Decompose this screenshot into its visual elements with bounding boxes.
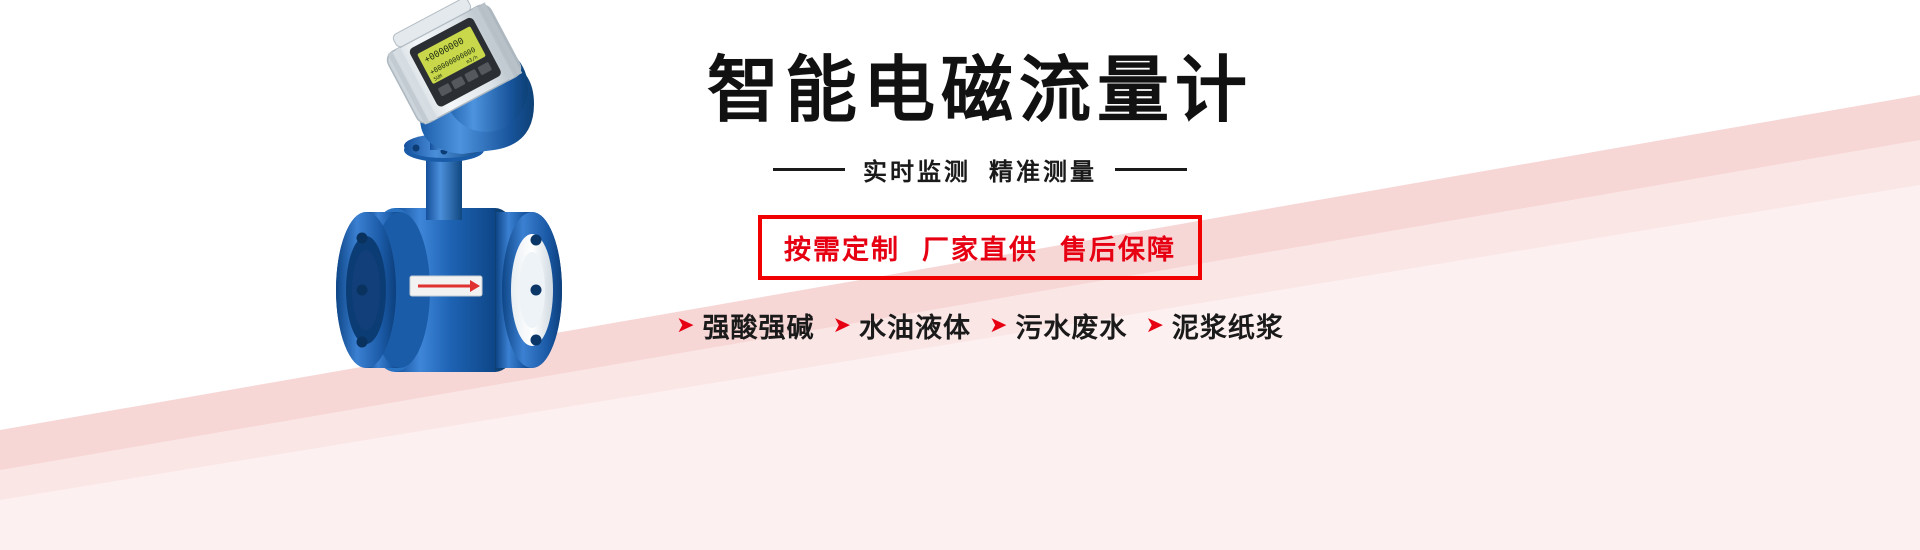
subtitle-text-right: 精准测量 [989,159,1097,186]
subtitle-rule-left [773,168,845,171]
feature-item-label: 水油液体 [859,306,971,345]
feature-item-1: ➤ 水油液体 [833,306,971,345]
subtitle-text-left: 实时监测 [863,159,971,186]
product-banner: +0000000 +00000000000 SUM m3/h LMFM 8321… [0,0,1920,550]
feature-item-label: 泥浆纸浆 [1172,306,1284,345]
subtitle-row: 实时监测精准测量 [600,152,1360,187]
arrow-right-icon: ➤ [833,314,852,336]
page-title: 智能电磁流量计 [600,30,1360,126]
feature-item-label: 污水废水 [1015,306,1127,345]
promo-item-0: 按需定制 [784,235,900,265]
feature-item-3: ➤ 泥浆纸浆 [1145,306,1283,345]
feature-item-0: ➤ 强酸强碱 [676,306,814,345]
arrow-right-icon: ➤ [1145,314,1164,336]
arrow-right-icon: ➤ [989,314,1008,336]
arrow-right-icon: ➤ [676,314,695,336]
feature-item-label: 强酸强碱 [703,306,815,345]
promo-item-1: 厂家直供 [922,235,1038,265]
banner-text-block: 智能电磁流量计 实时监测精准测量 按需定制厂家直供售后保障 ➤ 强酸强碱 ➤ 水… [600,30,1360,360]
subtitle-text: 实时监测精准测量 [863,152,1097,187]
promo-item-2: 售后保障 [1060,235,1176,265]
feature-list: ➤ 强酸强碱 ➤ 水油液体 ➤ 污水废水 ➤ 泥浆纸浆 [600,306,1360,345]
promo-box: 按需定制厂家直供售后保障 [758,215,1202,280]
subtitle-rule-right [1115,168,1187,171]
feature-item-2: ➤ 污水废水 [989,306,1127,345]
